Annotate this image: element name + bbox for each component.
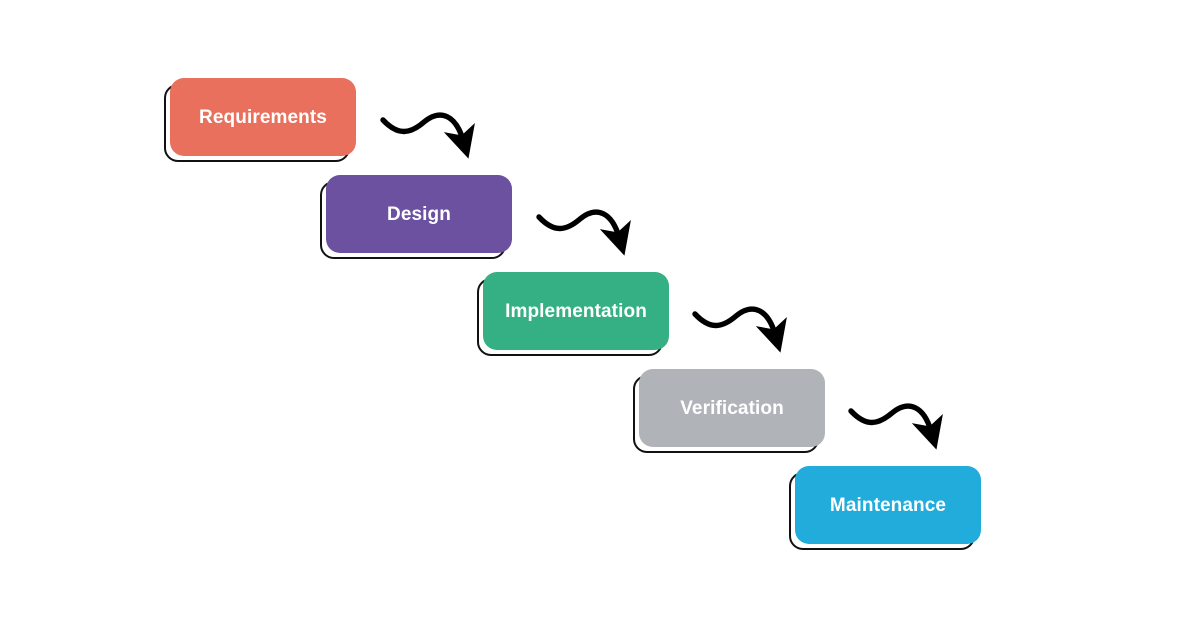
stage-fill: Maintenance [795,466,981,544]
stage-fill: Design [326,175,512,253]
stage-fill: Implementation [483,272,669,350]
arrow-implementation-verification [695,309,775,334]
stage-label: Maintenance [830,496,946,515]
arrow-verification-maintenance [851,406,931,431]
stage-label: Verification [680,399,784,418]
waterfall-diagram-canvas: Requirements Design Implementation Verif… [0,0,1200,628]
stage-label: Design [387,205,451,224]
arrow-design-implementation [539,212,619,237]
stage-fill: Verification [639,369,825,447]
stage-fill: Requirements [170,78,356,156]
arrow-requirements-design [383,115,463,140]
stage-label: Implementation [505,302,647,321]
stage-label: Requirements [199,108,327,127]
